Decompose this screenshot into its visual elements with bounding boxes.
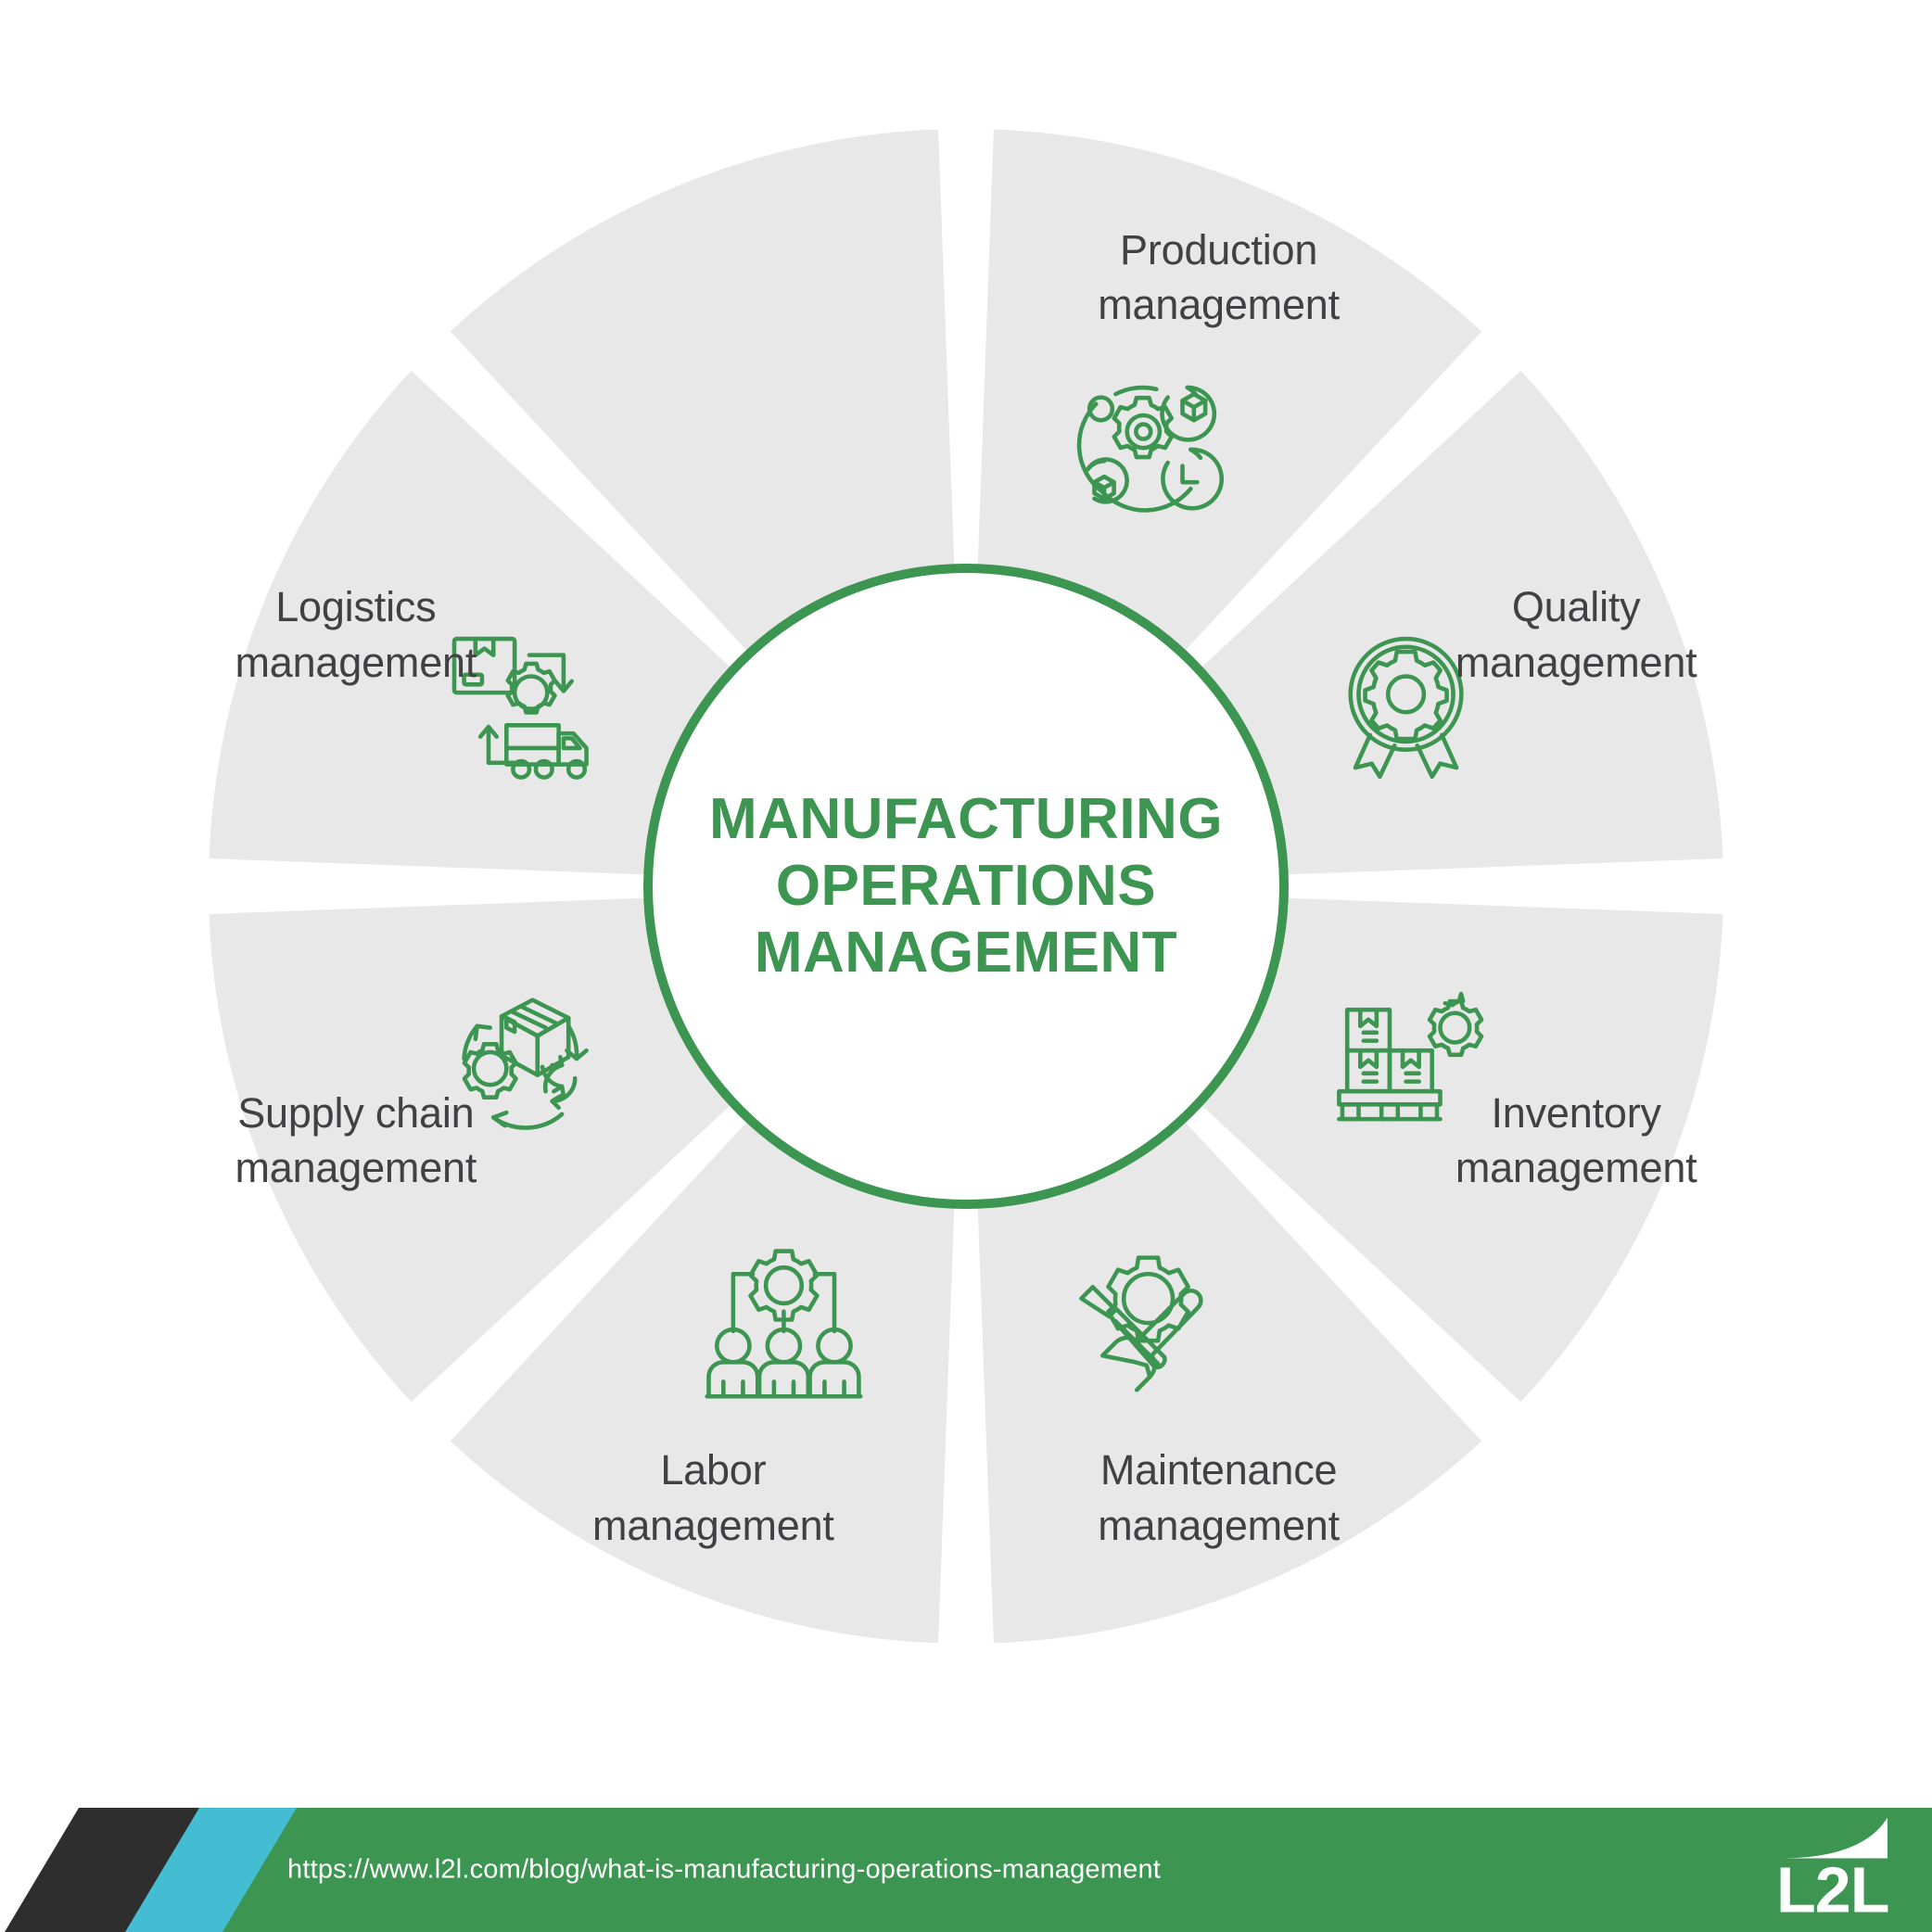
segment-label-logistics: Logistics management — [161, 579, 551, 690]
segment-label-supply-chain: Supply chain management — [161, 1086, 551, 1196]
segment-label-inventory: Inventory management — [1381, 1086, 1771, 1196]
segment-label-production: Production management — [1024, 222, 1414, 333]
infographic-canvas: MANUFACTURING OPERATIONS MANAGEMENT Prod… — [0, 0, 1932, 1932]
page-title: MANUFACTURING OPERATIONS MANAGEMENT — [688, 786, 1244, 986]
l2l-swoosh-icon — [1780, 1818, 1888, 1859]
l2l-logo: L2L — [1774, 1816, 1895, 1925]
segment-label-quality: Quality management — [1381, 579, 1771, 690]
segment-label-labor: Labor management — [518, 1443, 908, 1553]
l2l-wordmark: L2L — [1776, 1854, 1888, 1920]
footer-url-text[interactable]: https://www.l2l.com/blog/what-is-manufac… — [287, 1855, 1161, 1886]
segment-label-maintenance: Maintenance management — [1024, 1443, 1414, 1553]
footer-bar: https://www.l2l.com/blog/what-is-manufac… — [0, 1808, 1932, 1932]
l2l-logo-mark: L2L — [1774, 1816, 1895, 1920]
